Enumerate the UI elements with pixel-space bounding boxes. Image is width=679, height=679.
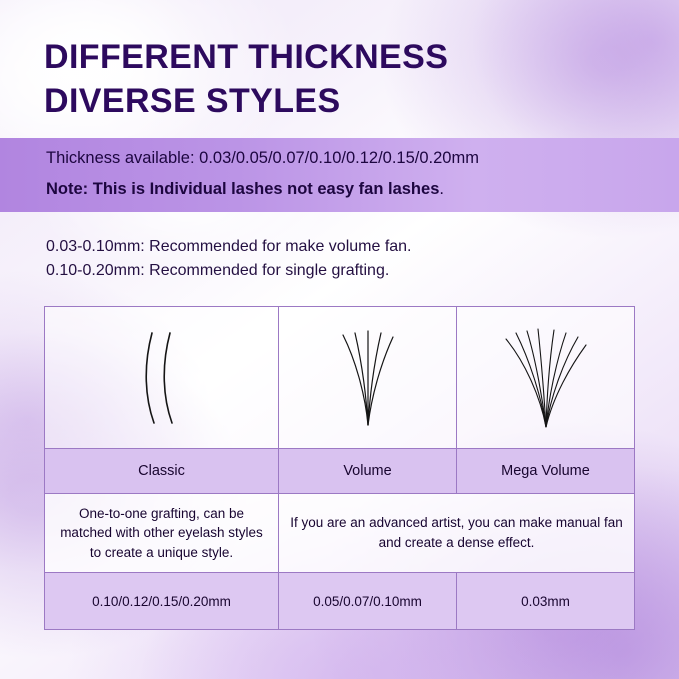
lash-comparison-table: Classic Volume Mega Volume One-to-one gr… (44, 306, 635, 630)
volume-lash-fan-illustration (279, 307, 457, 448)
label-mega-volume: Mega Volume (457, 449, 634, 493)
thickness-classic: 0.10/0.12/0.15/0.20mm (45, 573, 279, 629)
label-volume: Volume (279, 449, 457, 493)
description-volume-mega: If you are an advanced artist, you can m… (279, 494, 634, 572)
description-classic: One-to-one grafting, can be matched with… (45, 494, 279, 572)
mega-volume-lash-fan-illustration (457, 307, 634, 448)
table-row-illustrations (45, 307, 634, 449)
product-note-text: Note: This is Individual lashes not easy… (46, 180, 444, 199)
thickness-volume: 0.05/0.07/0.10mm (279, 573, 457, 629)
thickness-mega-volume: 0.03mm (457, 573, 634, 629)
thickness-available-text: Thickness available: 0.03/0.05/0.07/0.10… (46, 149, 479, 168)
product-note-bold: Note: This is Individual lashes not easy… (46, 180, 439, 198)
headline-line-2: DIVERSE STYLES (44, 80, 644, 124)
table-row-descriptions: One-to-one grafting, can be matched with… (45, 494, 634, 573)
classic-lash-illustration (45, 307, 279, 448)
poster-canvas: DIFFERENT THICKNESS DIVERSE STYLES Thick… (0, 0, 679, 679)
recommendation-note-1: 0.03-0.10mm: Recommended for make volume… (46, 238, 412, 256)
headline-line-1: DIFFERENT THICKNESS (44, 38, 448, 76)
page-title: DIFFERENT THICKNESS DIVERSE STYLES (44, 36, 644, 124)
table-row-thickness: 0.10/0.12/0.15/0.20mm 0.05/0.07/0.10mm 0… (45, 573, 634, 629)
table-row-labels: Classic Volume Mega Volume (45, 449, 634, 494)
recommendation-note-2: 0.10-0.20mm: Recommended for single graf… (46, 262, 389, 280)
label-classic: Classic (45, 449, 279, 493)
product-note-period: . (439, 180, 444, 198)
